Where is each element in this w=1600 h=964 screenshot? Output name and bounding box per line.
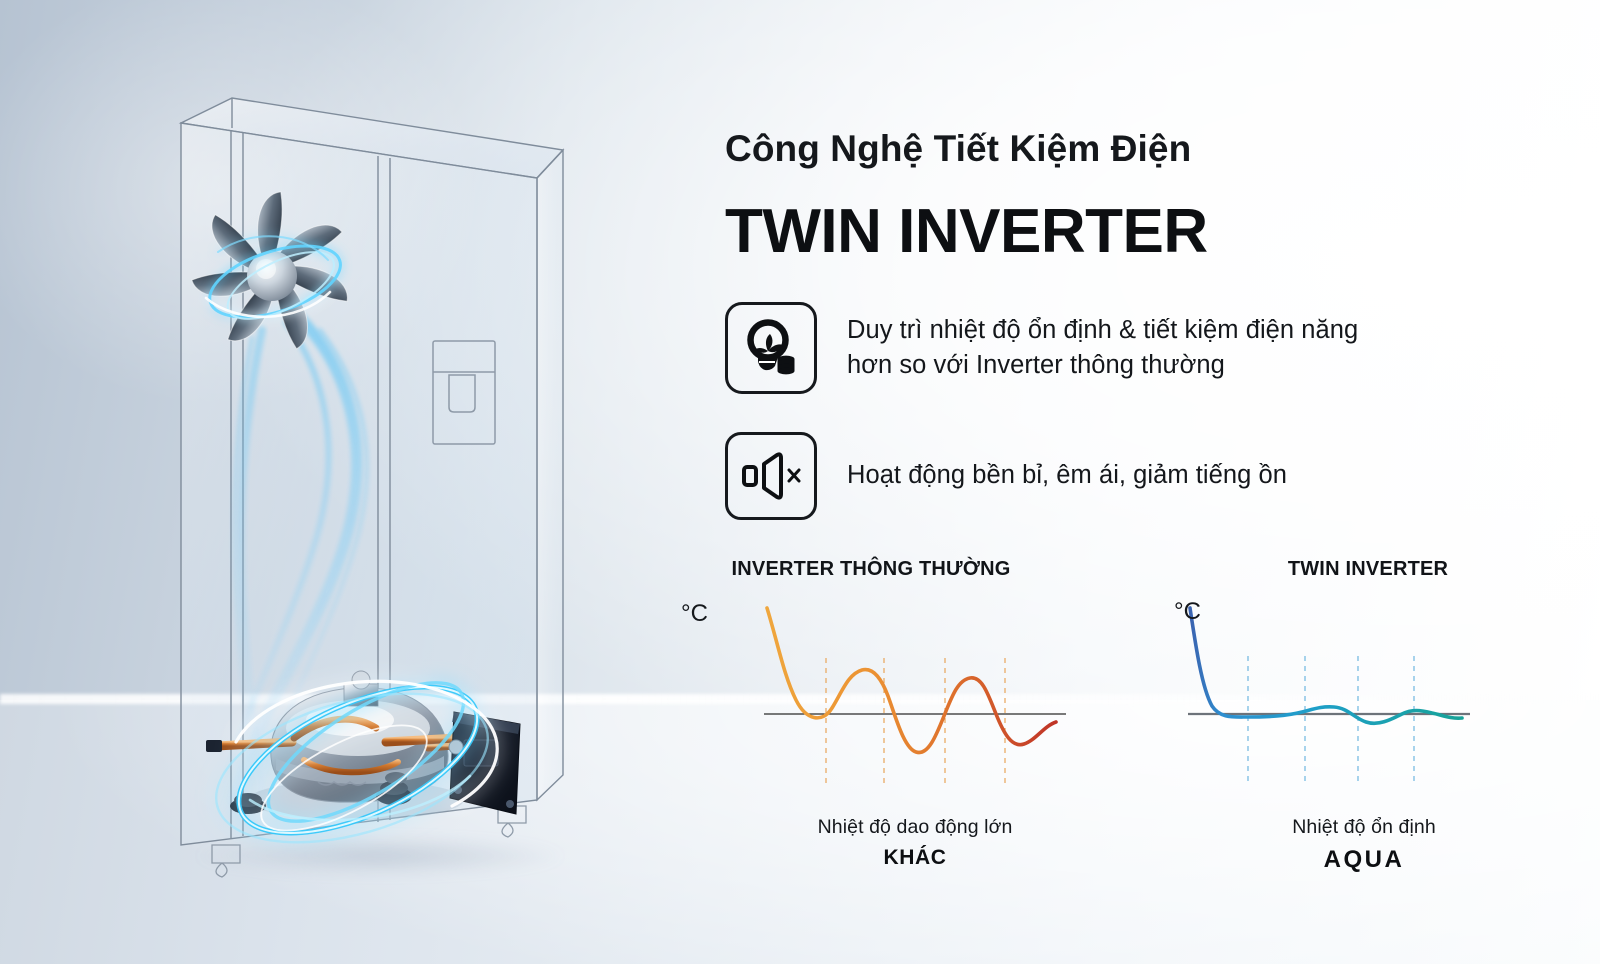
page-title: TWIN INVERTER: [725, 196, 1208, 267]
chart-plot-area: [726, 596, 1126, 811]
muted-speaker-icon: [725, 432, 817, 520]
refrigerator-illustration: [0, 0, 660, 964]
feature-item-energy-saving: Duy trì nhiệt độ ổn định & tiết kiệm điệ…: [725, 302, 1358, 394]
feature-item-low-noise: Hoạt động bền bỉ, êm ái, giảm tiếng ồn: [725, 432, 1287, 520]
chart-caption: Nhiệt độ ổn định: [1164, 816, 1564, 839]
chart-twin-inverter: TWIN INVERTER: [1150, 548, 1550, 878]
infographic-stage: Công Nghệ Tiết Kiệm Điện TWIN INVERTER: [0, 0, 1600, 964]
chart-brand-label: KHÁC: [715, 846, 1115, 870]
chart-plot-area: [1150, 596, 1550, 811]
chart-series-line: [767, 608, 1056, 753]
chart-y-axis-unit: °C: [681, 600, 708, 628]
eco-bulb-coins-icon: [725, 302, 817, 394]
content-column: Công Nghệ Tiết Kiệm Điện TWIN INVERTER: [720, 0, 1600, 964]
comparison-charts: INVERTER THÔNG THƯỜNG: [720, 548, 1600, 878]
feature-label: Duy trì nhiệt độ ổn định & tiết kiệm điệ…: [847, 313, 1358, 383]
chart-series-line: [1190, 608, 1462, 723]
chart-brand-label: AQUA: [1164, 846, 1564, 874]
chart-title: TWIN INVERTER: [1168, 558, 1568, 581]
eyebrow-title: Công Nghệ Tiết Kiệm Điện: [725, 128, 1191, 170]
chart-caption: Nhiệt độ dao động lớn: [715, 816, 1115, 839]
chart-conventional-inverter: INVERTER THÔNG THƯỜNG: [726, 548, 1126, 878]
chart-title: INVERTER THÔNG THƯỜNG: [671, 558, 1071, 581]
chart-y-axis-unit: °C: [1174, 598, 1201, 626]
feature-label: Hoạt động bền bỉ, êm ái, giảm tiếng ồn: [847, 458, 1287, 493]
